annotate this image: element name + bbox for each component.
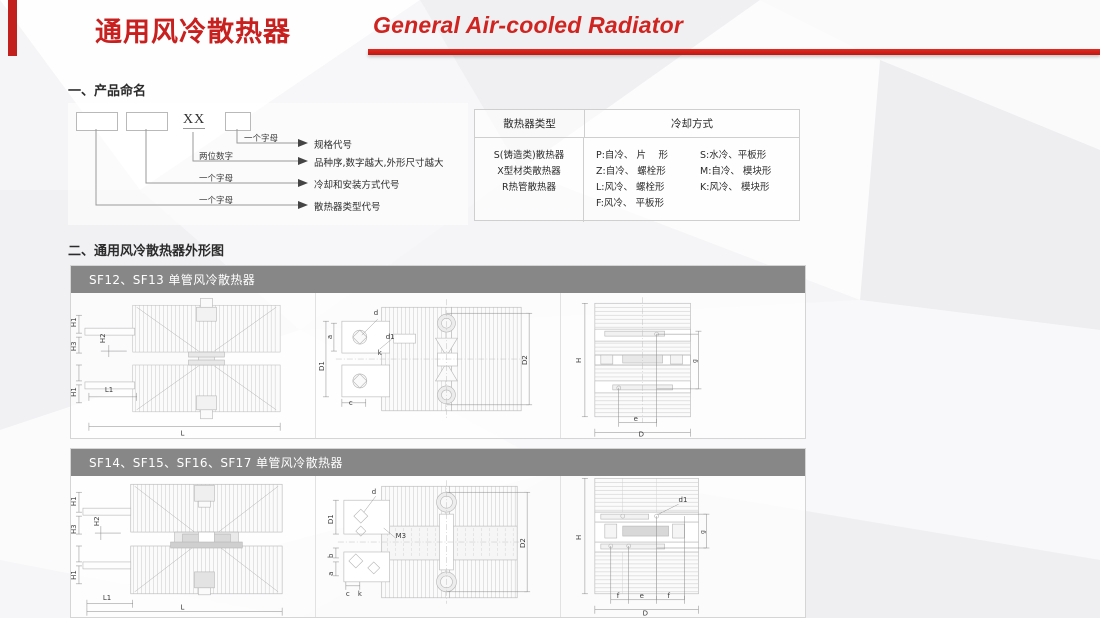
title-underline-bar	[368, 49, 1100, 55]
panel-body-1: H1 H3 H2 H1 L1 L	[71, 293, 805, 438]
cooling-row: F:风冷、 平板形	[596, 196, 799, 212]
dim-label-D: D	[639, 431, 644, 438]
dim-label-k-2: k	[358, 590, 363, 598]
dim-label-H-2: H	[575, 535, 583, 540]
type-row: R热管散热器	[475, 180, 583, 196]
dim-label-e: e	[634, 415, 638, 423]
panel-title-bar-1: SF12、SF13 单管风冷散热器	[71, 266, 805, 293]
cooling-left: F:风冷、 平板形	[596, 196, 700, 212]
page-title-cn: 通用风冷散热器	[95, 10, 291, 49]
dim-label-a-2: a	[327, 572, 335, 576]
dim-label-a: a	[326, 335, 334, 339]
naming-code-table: 散热器类型 冷却方式 S(铸造类)散热器 X型材类散热器 R热管散热器 P:自冷…	[474, 109, 800, 221]
lead-text-4: 散热器类型代号	[314, 199, 381, 213]
front-view-svg: H1 H3 H2 H1 L1 L	[71, 293, 315, 438]
dim-label-D2: D2	[521, 355, 529, 365]
type-row: S(铸造类)散热器	[475, 148, 583, 164]
lead-tag-1: 一个字母	[244, 132, 278, 144]
dim-label-b: b	[327, 553, 335, 558]
table-header-type: 散热器类型	[475, 110, 585, 137]
dim-label-D2-2: D2	[519, 538, 527, 548]
section-heading-outline-drawings: 二、通用风冷散热器外形图	[68, 240, 224, 259]
drawing-sf14-front-view: H1 H3 H2 H1 L1 L	[71, 476, 315, 617]
top-view-svg-2: d D1 M3 b a c k D2	[316, 476, 560, 617]
lead-text-2: 品种序,数字越大,外形尺寸越大	[314, 155, 444, 169]
dim-label-h2-2: H2	[93, 516, 101, 526]
dim-label-h2: H2	[99, 333, 107, 343]
dim-label-c: c	[349, 399, 353, 407]
lead-text-1: 规格代号	[314, 137, 352, 151]
dim-label-H: H	[575, 358, 583, 363]
dim-label-g-2: g	[699, 530, 706, 534]
dim-label-h3: H3	[71, 341, 78, 351]
lead-tag-4: 一个字母	[199, 194, 233, 206]
table-cell-types: S(铸造类)散热器 X型材类散热器 R热管散热器	[475, 138, 584, 222]
side-view-svg-2: H d1 g f e f D	[561, 476, 805, 617]
cooling-row: Z:自冷、 螺栓形 M:自冷、 模块形	[596, 164, 799, 180]
panel-title-1: SF12、SF13 单管风冷散热器	[89, 271, 255, 288]
drawing-sf14-side-view: H d1 g f e f D	[560, 476, 805, 617]
red-accent-bar	[8, 0, 17, 56]
dim-label-h3-2: H3	[71, 524, 78, 534]
panel-title-2: SF14、SF15、SF16、SF17 单管风冷散热器	[89, 454, 343, 471]
cooling-right: K:风冷、 模块形	[700, 180, 769, 196]
dim-label-h1-top: H1	[71, 317, 78, 327]
drawing-sf12-front-view: H1 H3 H2 H1 L1 L	[71, 293, 315, 438]
dim-label-l1-2: L1	[103, 594, 111, 602]
front-view-svg-2: H1 H3 H2 H1 L1 L	[71, 476, 315, 617]
dim-label-h1-top-2: H1	[71, 496, 78, 506]
cooling-left: Z:自冷、 螺栓形	[596, 164, 700, 180]
dim-label-h1-bottom-2: H1	[71, 570, 78, 580]
dim-label-c-2: c	[346, 590, 350, 598]
dim-label-e-2: e	[640, 592, 644, 600]
section-heading-naming: 一、产品命名	[68, 80, 146, 99]
cooling-left: P:自冷、 片 形	[596, 148, 700, 164]
page-title-en: General Air-cooled Radiator	[373, 12, 683, 39]
drawing-sf12-top-view: d d1 a D1 c k D2	[315, 293, 560, 438]
dim-label-l: L	[181, 430, 185, 438]
panel-body-2: H1 H3 H2 H1 L1 L	[71, 476, 805, 617]
panel-title-bar-2: SF14、SF15、SF16、SF17 单管风冷散热器	[71, 449, 805, 476]
table-header-row: 散热器类型 冷却方式	[475, 110, 799, 138]
top-view-svg: d d1 a D1 c k D2	[316, 293, 560, 438]
lead-tag-2: 两位数字	[199, 150, 233, 162]
dim-label-D1-2: D1	[327, 514, 335, 524]
cooling-left: L:风冷、 螺栓形	[596, 180, 700, 196]
table-body-row: S(铸造类)散热器 X型材类散热器 R热管散热器 P:自冷、 片 形 S:水冷、…	[475, 138, 799, 222]
drawing-panel-sf14-sf17: SF14、SF15、SF16、SF17 单管风冷散热器	[70, 448, 806, 618]
dim-label-h1-bottom: H1	[71, 387, 78, 397]
dim-label-D1: D1	[318, 361, 326, 371]
type-row: X型材类散热器	[475, 164, 583, 180]
cooling-right: M:自冷、 模块形	[700, 164, 771, 180]
cooling-right: S:水冷、平板形	[700, 148, 766, 164]
dim-label-d: d	[374, 309, 378, 317]
page-header: 通用风冷散热器 General Air-cooled Radiator	[0, 0, 1100, 62]
dim-label-g: g	[691, 359, 698, 363]
drawing-sf12-side-view: H g e D	[560, 293, 805, 438]
lead-tag-3: 一个字母	[199, 172, 233, 184]
dim-label-d-2: d	[372, 488, 376, 496]
dim-label-d1-2: d1	[679, 496, 688, 504]
dim-label-D-2: D	[643, 610, 648, 617]
lead-text-3: 冷却和安装方式代号	[314, 177, 400, 191]
drawing-sf14-top-view: d D1 M3 b a c k D2	[315, 476, 560, 617]
dim-label-d1: d1	[386, 333, 395, 341]
dim-label-l-2: L	[181, 604, 185, 612]
dim-label-M3: M3	[396, 532, 406, 540]
table-cell-cooling: P:自冷、 片 形 S:水冷、平板形 Z:自冷、 螺栓形 M:自冷、 模块形 L…	[584, 138, 799, 222]
side-view-svg: H g e D	[561, 293, 805, 438]
drawing-panel-sf12-sf13: SF12、SF13 单管风冷散热器	[70, 265, 806, 439]
cooling-row: P:自冷、 片 形 S:水冷、平板形	[596, 148, 799, 164]
table-header-cooling: 冷却方式	[585, 110, 799, 137]
cooling-row: L:风冷、 螺栓形 K:风冷、 模块形	[596, 180, 799, 196]
dim-label-l1: L1	[105, 386, 113, 394]
